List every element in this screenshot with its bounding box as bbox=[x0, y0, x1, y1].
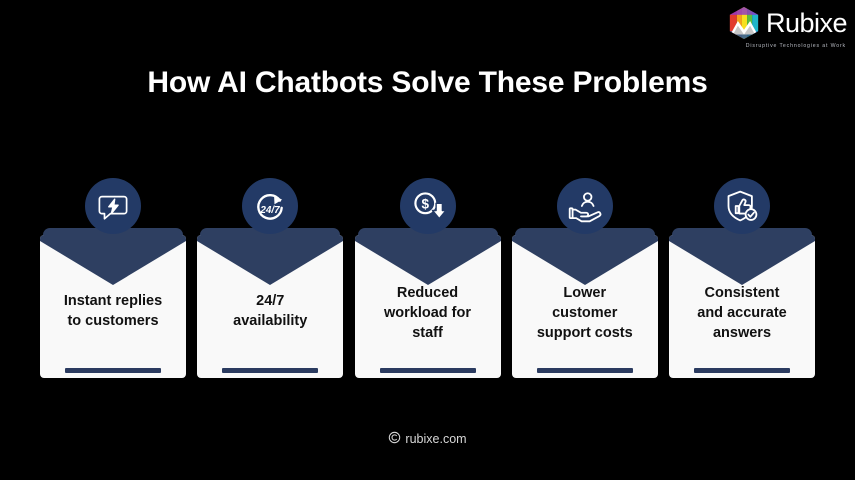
chevron-shape bbox=[40, 235, 186, 285]
card-body: Instant replies to customers bbox=[40, 235, 186, 378]
card-accent-bar bbox=[65, 368, 161, 373]
benefit-card-lower-costs[interactable]: Lower customer support costs bbox=[512, 178, 658, 378]
chevron-shape bbox=[669, 235, 815, 285]
slide-canvas: Rubixe Disruptive Technologies at Work H… bbox=[0, 0, 855, 480]
page-title: How AI Chatbots Solve These Problems bbox=[0, 66, 855, 100]
card-accent-bar bbox=[380, 368, 476, 373]
card-label: Instant replies to customers bbox=[40, 291, 186, 331]
footer: rubixe.com bbox=[0, 431, 855, 447]
clock-24-7-arrow-icon: 24/7 bbox=[242, 178, 298, 234]
footer-url[interactable]: rubixe.com bbox=[405, 432, 466, 446]
chat-bubble-lightning-icon bbox=[85, 178, 141, 234]
card-accent-bar bbox=[222, 368, 318, 373]
benefit-card-consistent-answers[interactable]: Consistent and accurate answers bbox=[669, 178, 815, 378]
rainbow-hexagon-logo-icon bbox=[727, 6, 761, 40]
card-body: Reduced workload for staff bbox=[355, 235, 501, 378]
card-body: Consistent and accurate answers bbox=[669, 235, 815, 378]
benefit-card-availability[interactable]: 24/7 24/7 availability bbox=[197, 178, 343, 378]
hand-holding-person-icon bbox=[557, 178, 613, 234]
card-label: 24/7 availability bbox=[197, 291, 343, 331]
benefit-cards-row: Instant replies to customers 24/7 bbox=[40, 178, 815, 378]
benefit-card-reduced-workload[interactable]: $ Reduced workload for staff bbox=[355, 178, 501, 378]
logo-tagline: Disruptive Technologies at Work bbox=[746, 43, 846, 49]
card-body: 24/7 availability bbox=[197, 235, 343, 378]
chevron-shape bbox=[197, 235, 343, 285]
copyright-icon bbox=[388, 431, 401, 447]
card-label: Lower customer support costs bbox=[512, 283, 658, 343]
card-body: Lower customer support costs bbox=[512, 235, 658, 378]
card-accent-bar bbox=[694, 368, 790, 373]
chevron-shape bbox=[512, 235, 658, 285]
card-label: Reduced workload for staff bbox=[355, 283, 501, 343]
card-accent-bar bbox=[537, 368, 633, 373]
logo-row: Rubixe bbox=[727, 6, 847, 40]
benefit-card-instant-replies[interactable]: Instant replies to customers bbox=[40, 178, 186, 378]
brand-logo[interactable]: Rubixe Disruptive Technologies at Work bbox=[727, 6, 847, 49]
shield-thumbs-up-check-icon bbox=[714, 178, 770, 234]
svg-text:24/7: 24/7 bbox=[260, 205, 281, 216]
chevron-shape bbox=[355, 235, 501, 285]
card-label: Consistent and accurate answers bbox=[669, 283, 815, 343]
svg-text:$: $ bbox=[421, 197, 429, 212]
logo-wordmark: Rubixe bbox=[766, 10, 847, 37]
dollar-circle-down-arrow-icon: $ bbox=[400, 178, 456, 234]
